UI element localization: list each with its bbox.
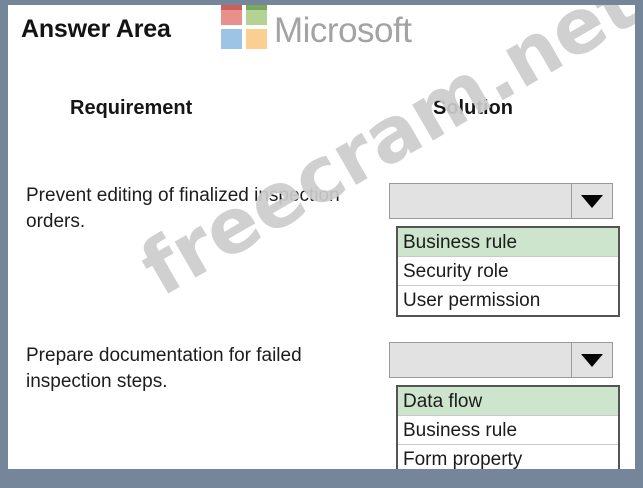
logo-square-yellow-body [246,34,267,49]
dropdown-option-list[interactable]: Data flow Business rule Form property [396,385,620,469]
solution-dropdown[interactable]: Business rule Security role User permiss… [389,183,613,219]
answer-area-page: Answer Area Micros [8,5,635,469]
requirement-text: Prepare documentation for failed inspect… [26,343,386,395]
dropdown-closed-box[interactable] [389,342,613,378]
header: Answer Area Micros [8,5,635,63]
dropdown-option[interactable]: Security role [398,257,618,286]
logo-square-red-body [221,10,242,25]
logo-square-red [221,5,242,25]
logo-square-green [246,5,267,25]
dropdown-option[interactable]: Data flow [398,387,618,416]
logo-square-blue [221,29,242,49]
microsoft-wordmark: Microsoft [274,11,411,51]
logo-square-green-body [246,10,267,25]
logo-square-yellow [246,29,267,49]
dropdown-option[interactable]: Business rule [398,416,618,445]
dropdown-option[interactable]: Business rule [398,228,618,257]
page-title: Answer Area [21,15,171,44]
dropdown-option[interactable]: User permission [398,286,618,315]
column-header-requirement: Requirement [70,97,192,120]
screenshot-frame: Answer Area Micros [0,0,643,488]
dropdown-toggle-button[interactable] [571,343,612,377]
dropdown-closed-box[interactable] [389,183,613,219]
chevron-down-icon [581,354,603,367]
column-header-solution: Solution [433,97,513,120]
dropdown-toggle-button[interactable] [571,184,612,218]
dropdown-option[interactable]: Form property [398,445,618,469]
microsoft-logo-icon [221,5,269,51]
logo-square-blue-body [221,34,242,49]
requirement-text: Prevent editing of finalized inspection … [26,183,386,235]
dropdown-option-list[interactable]: Business rule Security role User permiss… [396,226,620,317]
solution-dropdown[interactable]: Data flow Business rule Form property [389,342,613,378]
chevron-down-icon [581,195,603,208]
